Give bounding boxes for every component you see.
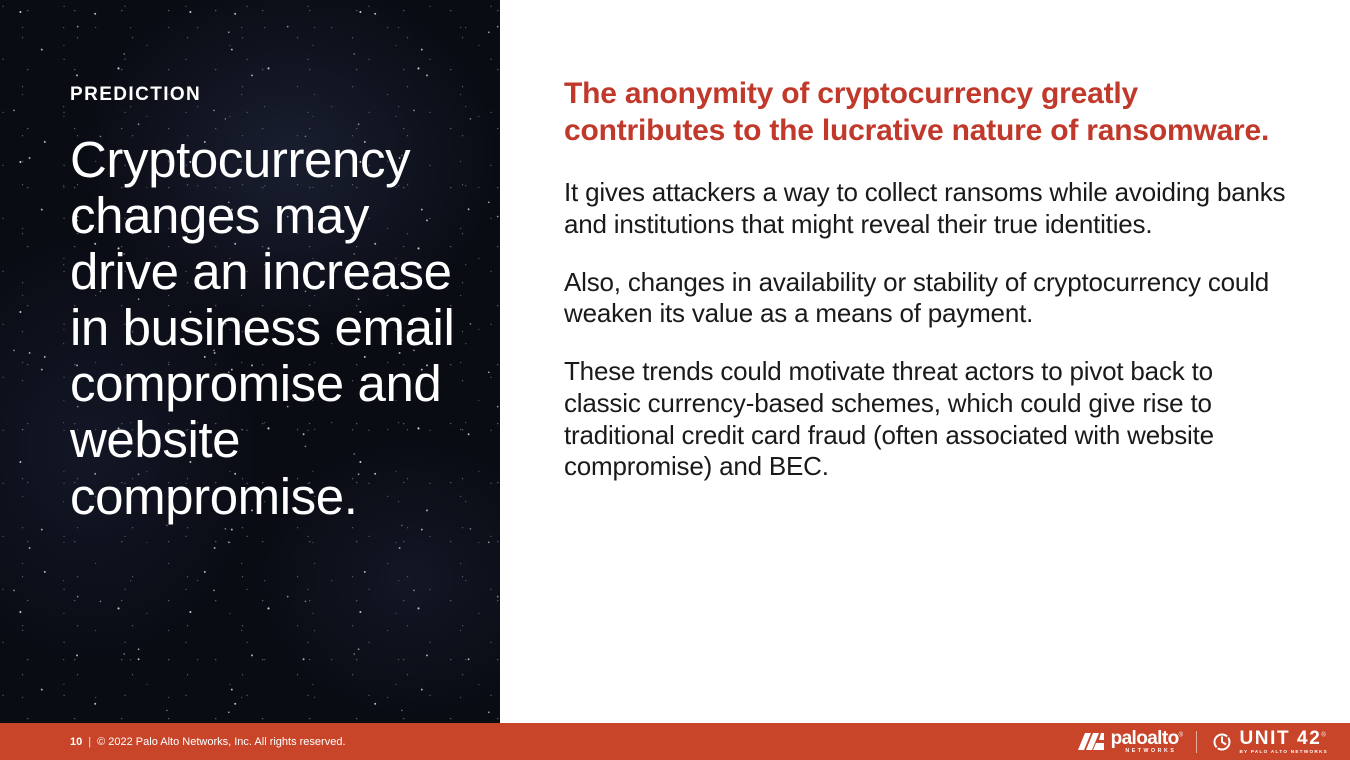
paloalto-slashes-icon: [1078, 732, 1104, 751]
paloalto-trademark-symbol: ®: [1179, 733, 1183, 739]
right-panel-content: The anonymity of cryptocurrency greatly …: [564, 76, 1286, 483]
paloalto-wordmark-wrap: paloalto® NETWORKS: [1111, 729, 1183, 754]
unit42-trademark-symbol: ®: [1321, 732, 1325, 738]
slide-title: Cryptocurrency changes may drive an incr…: [70, 132, 470, 525]
unit42-wordmark: UNIT 42®: [1239, 729, 1325, 748]
footer-separator: |: [88, 736, 91, 748]
logo-divider: [1196, 731, 1197, 753]
body-paragraph-2: Also, changes in availability or stabili…: [564, 267, 1286, 330]
paloalto-subtext: NETWORKS: [1125, 749, 1182, 754]
paloalto-networks-logo: paloalto® NETWORKS: [1078, 729, 1183, 754]
page-number: 10: [70, 736, 82, 748]
copyright-text: © 2022 Palo Alto Networks, Inc. All righ…: [97, 736, 345, 748]
body-paragraph-1: It gives attackers a way to collect rans…: [564, 177, 1286, 240]
slide-footer: 10 | © 2022 Palo Alto Networks, Inc. All…: [0, 723, 1350, 760]
unit42-wordmark-wrap: UNIT 42® BY PALO ALTO NETWORKS: [1239, 729, 1328, 755]
body-paragraph-3: These trends could motivate threat actor…: [564, 356, 1286, 483]
presentation-slide: PREDICTION Cryptocurrency changes may dr…: [0, 0, 1350, 760]
footer-left-group: 10 | © 2022 Palo Alto Networks, Inc. All…: [70, 736, 346, 748]
paloalto-wordmark: paloalto®: [1111, 729, 1183, 748]
left-panel-content: PREDICTION Cryptocurrency changes may dr…: [70, 84, 470, 525]
prediction-eyebrow-label: PREDICTION: [70, 84, 470, 106]
content-headline: The anonymity of cryptocurrency greatly …: [564, 76, 1286, 149]
right-content-panel: The anonymity of cryptocurrency greatly …: [500, 0, 1350, 723]
unit42-swirl-icon: [1211, 731, 1233, 752]
unit42-subtext: BY PALO ALTO NETWORKS: [1239, 750, 1328, 755]
unit42-logo: UNIT 42® BY PALO ALTO NETWORKS: [1211, 729, 1328, 755]
footer-logo-group: paloalto® NETWORKS UNIT 42® BY PALO ALTO…: [1078, 729, 1328, 755]
left-title-panel: PREDICTION Cryptocurrency changes may dr…: [0, 0, 500, 723]
